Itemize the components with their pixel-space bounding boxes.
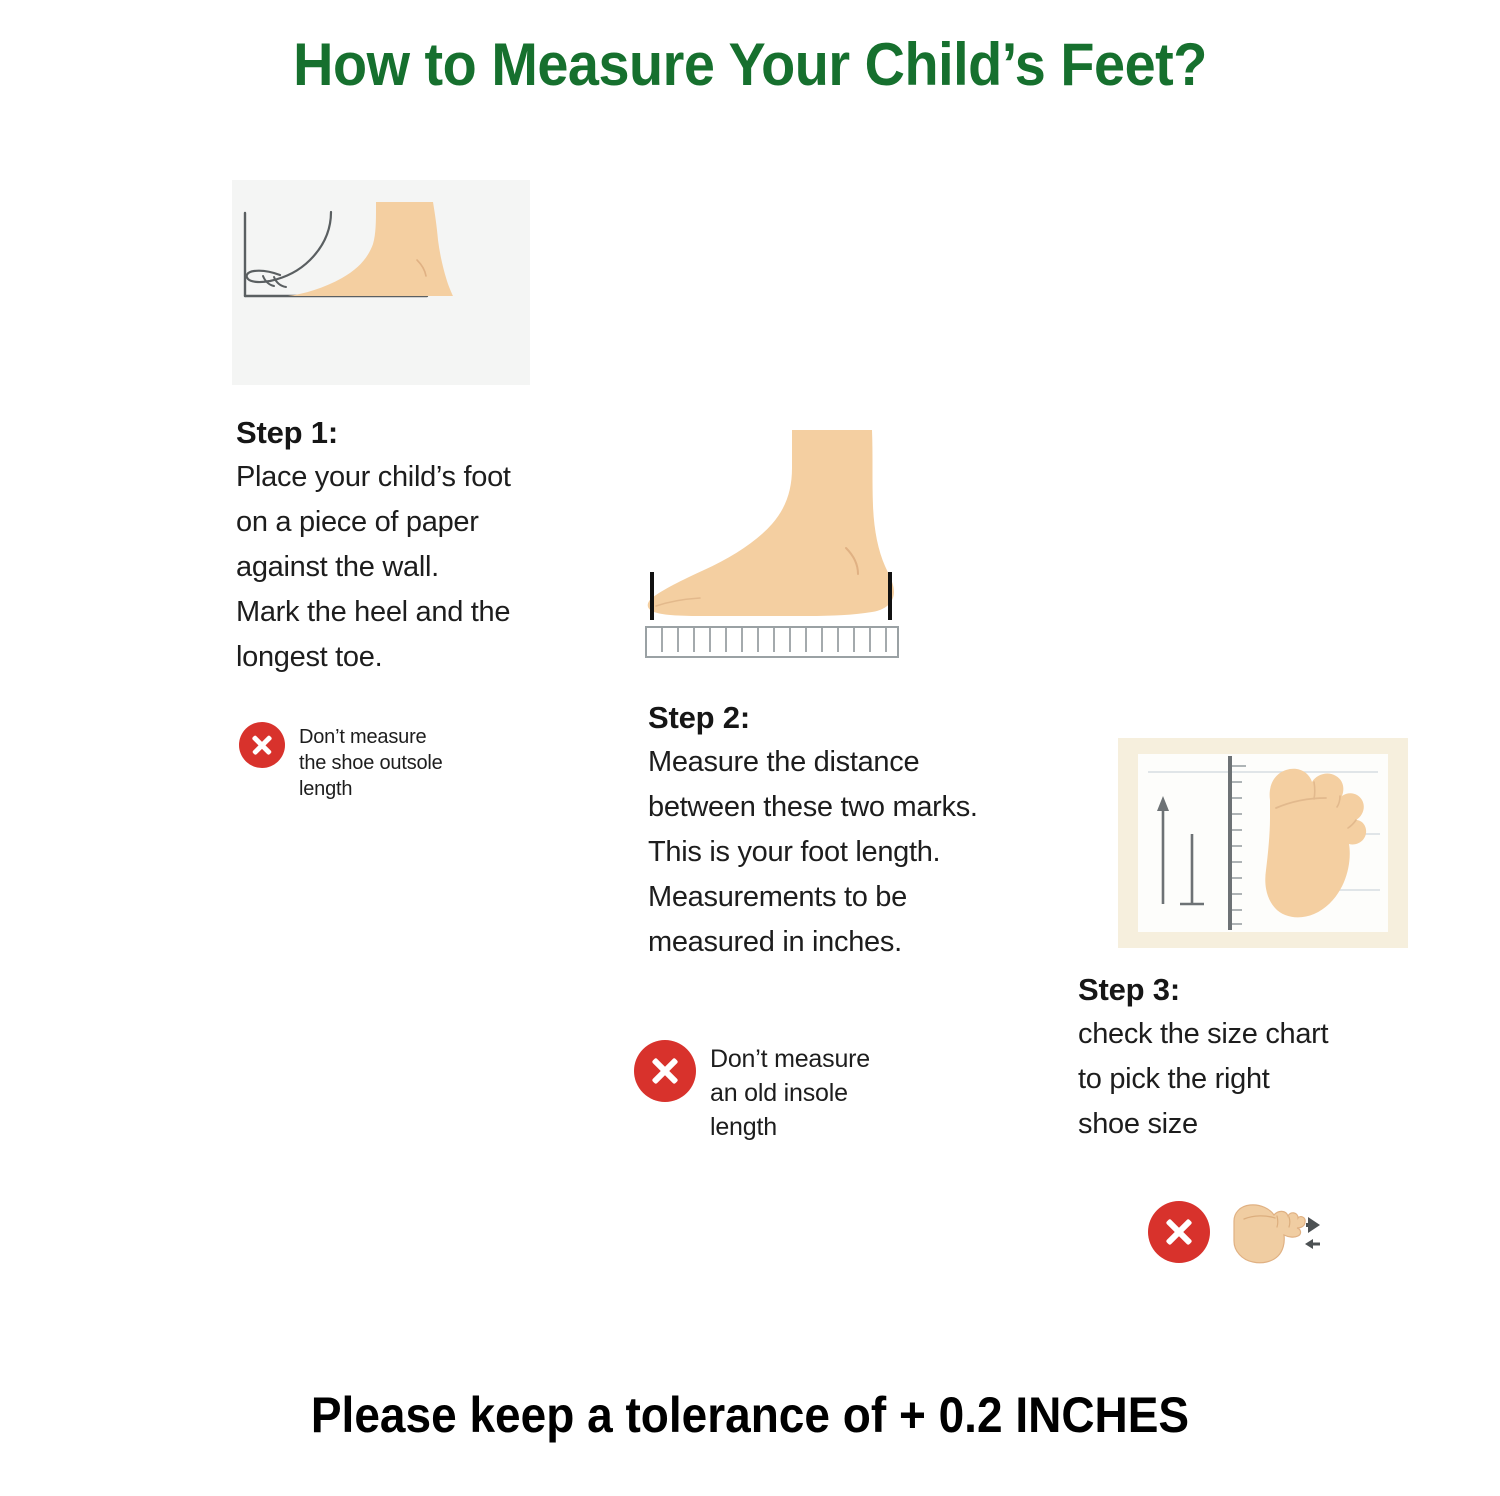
step-2-warning-text: Don’t measure an old insole length [710,1040,870,1144]
step-2-line-3: This is your foot length. [648,832,1088,873]
step-3-line-3: shoe size [1078,1104,1428,1145]
tolerance-note: Please keep a tolerance of + 0.2 INCHES [60,1386,1440,1444]
x-circle-icon [239,722,285,768]
step-1-warning-line-3: length [299,776,443,802]
step-1-illustration [232,180,530,385]
step-3-body: check the size chart to pick the right s… [1078,1014,1428,1145]
x-circle-icon [1148,1201,1210,1263]
step-1-warning-line-1: Don’t measure [299,724,443,750]
step-2-line-5: measured in inches. [648,922,1088,963]
step-1-line-2: on a piece of paper [236,502,566,543]
step-1-line-5: longest toe. [236,637,566,678]
x-circle-icon [634,1040,696,1102]
step-1-warning: Don’t measure the shoe outsole length [239,722,443,802]
step-1-line-3: against the wall. [236,547,566,588]
foot-sole-with-arrows-icon [1228,1201,1320,1272]
step-3-warning [1148,1201,1320,1272]
step-3-line-1: check the size chart [1078,1014,1428,1055]
step-1-heading: Step 1: [236,415,566,451]
step-2-heading: Step 2: [648,700,1088,736]
step-1-warning-text: Don’t measure the shoe outsole length [299,722,443,802]
step-1-line-4: Mark the heel and the [236,592,566,633]
step-1-text-block: Step 1: Place your child’s foot on a pie… [236,415,566,678]
step-2-line-4: Measurements to be [648,877,1088,918]
step-3-heading: Step 3: [1078,972,1428,1008]
step-2-illustration [640,420,940,665]
step-2-warning-line-3: length [710,1110,870,1144]
step-3-text-block: Step 3: check the size chart to pick the… [1078,972,1428,1145]
step-1-body: Place your child’s foot on a piece of pa… [236,457,566,678]
step-1-warning-line-2: the shoe outsole [299,750,443,776]
step-2-line-1: Measure the distance [648,742,1088,783]
step-1-line-1: Place your child’s foot [236,457,566,498]
step-2-line-2: between these two marks. [648,787,1088,828]
step-3-illustration [1118,738,1408,948]
step-2-warning: Don’t measure an old insole length [634,1040,870,1144]
page-title: How to Measure Your Child’s Feet? [53,30,1448,99]
step-2-text-block: Step 2: Measure the distance between the… [648,700,1088,963]
step-2-warning-line-1: Don’t measure [710,1042,870,1076]
step-2-body: Measure the distance between these two m… [648,742,1088,963]
step-2-warning-line-2: an old insole [710,1076,870,1110]
step-3-line-2: to pick the right [1078,1059,1428,1100]
